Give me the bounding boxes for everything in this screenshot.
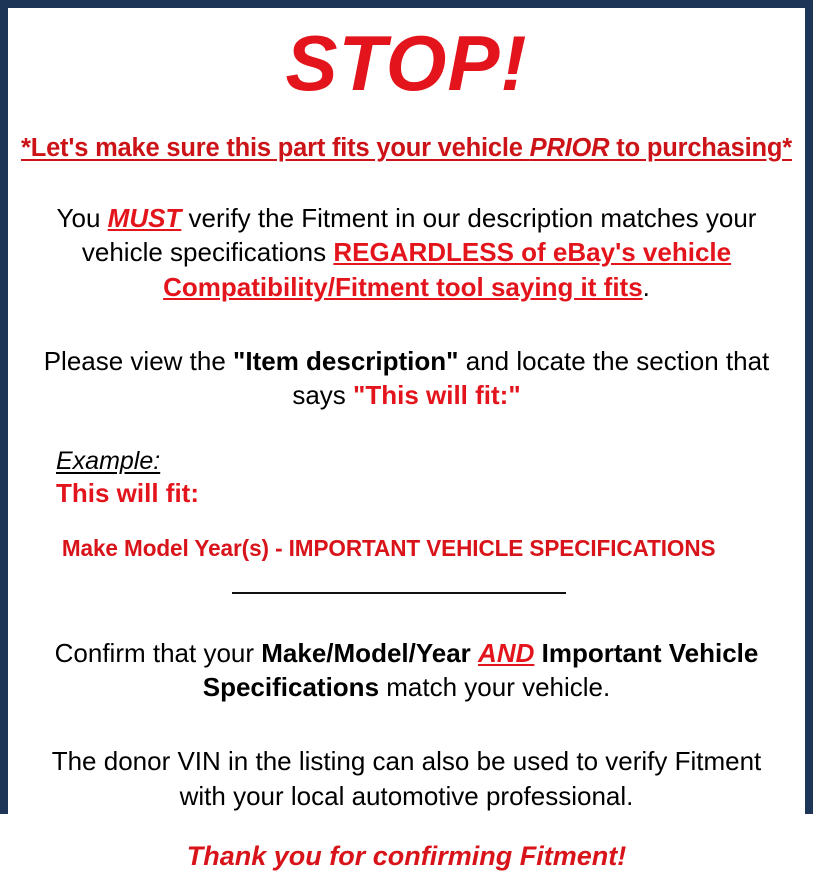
example-fit-heading: This will fit: (56, 478, 793, 509)
subtitle-text-before: *Let's make sure this part fits your veh… (21, 134, 530, 162)
section-divider (232, 592, 566, 594)
confirm-space-1 (471, 638, 478, 668)
page-title: STOP! (20, 24, 793, 102)
example-block: Example: This will fit: Make Model Year(… (20, 447, 793, 562)
emphasis-and: AND (478, 638, 534, 668)
example-spec-line: Make Model Year(s) - IMPORTANT VEHICLE S… (56, 535, 778, 562)
divider-wrapper (20, 588, 793, 600)
confirm-text-lead: Confirm that your (55, 638, 262, 668)
thanks-message: Thank you for confirming Fitment! (20, 841, 793, 872)
example-label: Example: (56, 447, 160, 476)
notice-inner: STOP! *Let's make sure this part fits yo… (8, 24, 805, 822)
view-text-lead: Please view the (44, 346, 233, 376)
must-text-end: . (643, 272, 650, 302)
emphasis-must: MUST (108, 203, 182, 233)
confirm-text-end: match your vehicle. (379, 672, 610, 702)
subtitle-emphasis-prior: PRIOR (530, 134, 610, 162)
paragraph-donor-vin: The donor VIN in the listing can also be… (20, 744, 793, 813)
example-label-row: Example: (56, 447, 793, 476)
subtitle-banner: *Let's make sure this part fits your veh… (20, 134, 793, 163)
paragraph-confirm-match: Confirm that your Make/Model/Year AND Im… (20, 636, 793, 705)
paragraph-must-verify: You MUST verify the Fitment in our descr… (20, 201, 793, 304)
emphasis-item-description: "Item description" (233, 346, 458, 376)
fitment-notice-card: STOP! *Let's make sure this part fits yo… (0, 0, 813, 814)
emphasis-make-model-year: Make/Model/Year (261, 638, 471, 668)
confirm-space-2 (534, 638, 541, 668)
emphasis-this-will-fit: "This will fit:" (353, 380, 521, 410)
must-text-lead: You (57, 203, 108, 233)
paragraph-view-description: Please view the "Item description" and l… (20, 344, 793, 413)
subtitle-text-after: to purchasing* (609, 134, 792, 162)
